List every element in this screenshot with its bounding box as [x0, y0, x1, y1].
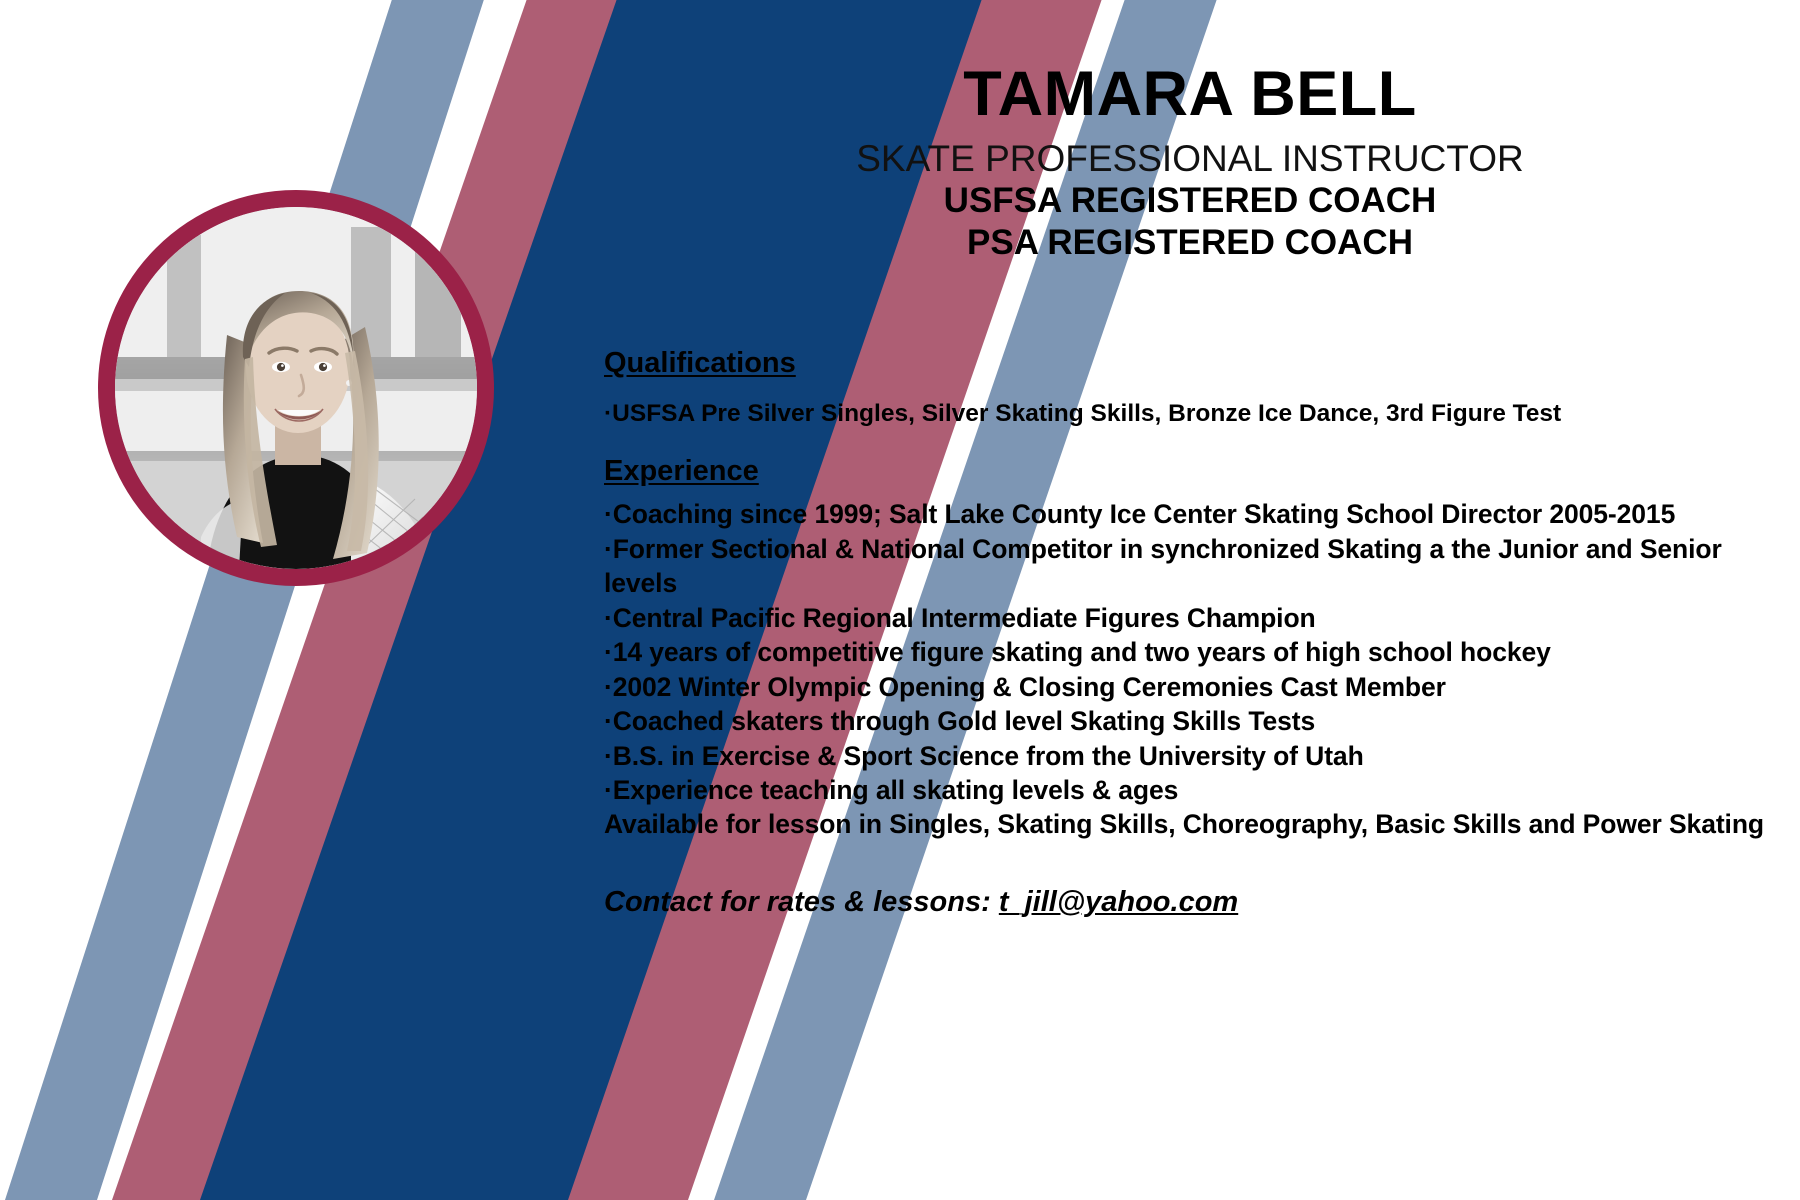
- experience-item: ·Central Pacific Regional Intermediate F…: [604, 601, 1794, 635]
- contact-prefix: Contact for rates & lessons:: [604, 886, 999, 918]
- mauve-stripe-left: [112, 0, 650, 1200]
- experience-item: Available for lesson in Singles, Skating…: [604, 807, 1794, 841]
- qualifications-heading: Qualifications: [604, 346, 1794, 381]
- experience-item: ·B.S. in Exercise & Sport Science from t…: [604, 739, 1794, 773]
- credential-usfsa: USFSA REGISTERED COACH: [600, 180, 1780, 221]
- subtitle: SKATE PROFESSIONAL INSTRUCTOR: [600, 138, 1780, 180]
- header: TAMARA BELL SKATE PROFESSIONAL INSTRUCTO…: [600, 62, 1780, 263]
- qualification-item: ·USFSA Pre Silver Singles, Silver Skatin…: [604, 398, 1794, 430]
- contact-line: Contact for rates & lessons: t_jill@yaho…: [604, 886, 1794, 919]
- experience-item: ·Coached skaters through Gold level Skat…: [604, 704, 1794, 738]
- credential-psa: PSA REGISTERED COACH: [600, 222, 1780, 263]
- portrait-photo: [115, 207, 477, 569]
- experience-item: ·Former Sectional & National Competitor …: [604, 532, 1794, 601]
- contact-email-link[interactable]: t_jill@yahoo.com: [999, 886, 1238, 918]
- business-card: TAMARA BELL SKATE PROFESSIONAL INSTRUCTO…: [0, 0, 1800, 1200]
- experience-item: ·Coaching since 1999; Salt Lake County I…: [604, 497, 1794, 531]
- avatar: [98, 190, 494, 586]
- experience-heading: Experience: [604, 454, 1794, 489]
- experience-item: ·2002 Winter Olympic Opening & Closing C…: [604, 670, 1794, 704]
- page-title: TAMARA BELL: [600, 62, 1780, 126]
- steel-blue-stripe: [5, 0, 487, 1200]
- body-content: Qualifications ·USFSA Pre Silver Singles…: [604, 346, 1794, 919]
- experience-item: ·14 years of competitive figure skating …: [604, 635, 1794, 669]
- experience-item: ·Experience teaching all skating levels …: [604, 773, 1794, 807]
